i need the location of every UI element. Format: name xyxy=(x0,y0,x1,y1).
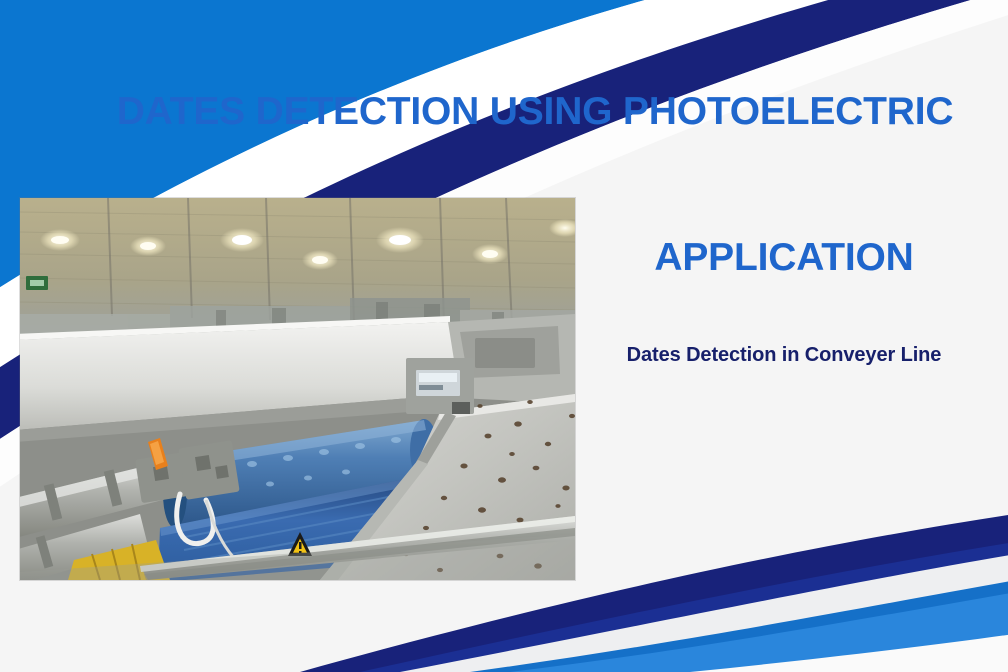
page-title-second-line: APPLICATION xyxy=(560,238,1008,279)
swoosh-bottomright-blue-highlight xyxy=(510,590,1008,672)
photo-illustration xyxy=(20,198,575,580)
presentation-slide: DATES DETECTION USING PHOTOELECTRIC APPL… xyxy=(0,0,1008,672)
page-title: DATES DETECTION USING PHOTOELECTRIC xyxy=(70,92,1000,133)
conveyer-line-photo xyxy=(20,198,575,580)
swoosh-bottomright-bottom-white xyxy=(690,632,1008,672)
swoosh-bottomright-blue xyxy=(470,578,1008,672)
control-panel-display xyxy=(406,358,474,414)
page-subtitle: Dates Detection in Conveyer Line xyxy=(560,344,1008,367)
